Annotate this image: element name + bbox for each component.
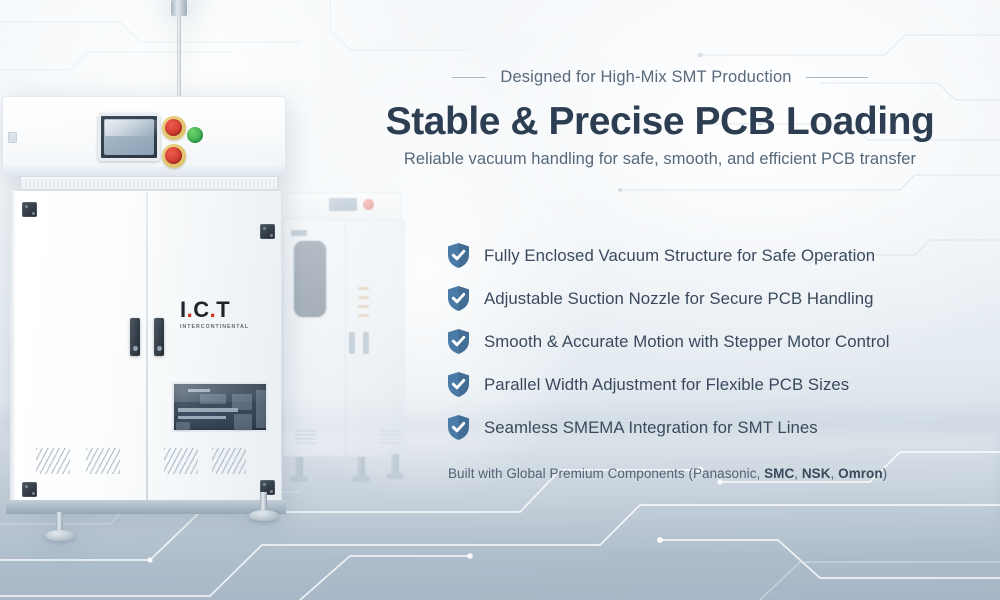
- internal-rail: [178, 416, 226, 419]
- secondary-machine-door-split: [345, 220, 346, 457]
- leveling-foot-pad: [45, 530, 75, 541]
- brand-omron: Omron: [838, 466, 883, 481]
- hero-banner: I.C.T INTERCONTINENTAL Designed for High…: [0, 0, 1000, 600]
- hero-content: Designed for High-Mix SMT Production Sta…: [360, 0, 1000, 600]
- cabinet-viewing-window: [172, 382, 268, 432]
- brand-panasonic: Panasonic: [693, 466, 757, 481]
- feature-item: Fully Enclosed Vacuum Structure for Safe…: [446, 234, 966, 277]
- internal-rail: [178, 408, 238, 412]
- secondary-machine-label: [291, 230, 307, 236]
- internal-component: [234, 414, 252, 431]
- cabinet-door-handle-left[interactable]: [130, 318, 140, 356]
- secondary-machine-handle: [349, 332, 355, 354]
- shield-check-icon: [446, 328, 471, 355]
- eyebrow-rule-right: [806, 77, 868, 78]
- secondary-machine-foot-pad: [290, 476, 308, 482]
- logo-letter-c: C: [193, 297, 209, 322]
- eyebrow-text: Designed for High-Mix SMT Production: [500, 68, 791, 87]
- window-glare: [174, 384, 270, 402]
- door-hinge-top-left: [22, 202, 37, 217]
- feature-label: Fully Enclosed Vacuum Structure for Safe…: [484, 246, 875, 266]
- footnote-suffix: ): [883, 466, 888, 481]
- cabinet-door-split: [146, 192, 148, 504]
- feature-label: Adjustable Suction Nozzle for Secure PCB…: [484, 289, 874, 309]
- ventilation-grille: [86, 448, 120, 474]
- eyebrow-rule-left: [452, 77, 486, 78]
- feature-label: Seamless SMEMA Integration for SMT Lines: [484, 418, 818, 438]
- components-footnote: Built with Global Premium Components (Pa…: [448, 466, 988, 481]
- cabinet-left-edge: [10, 190, 15, 506]
- logo-tagline: INTERCONTINENTAL: [180, 324, 272, 330]
- cabinet-door-handle-right[interactable]: [154, 318, 164, 356]
- logo-letter-t: T: [216, 297, 230, 322]
- feature-label: Smooth & Accurate Motion with Stepper Mo…: [484, 332, 890, 352]
- ict-brand-logo: I.C.T INTERCONTINENTAL: [180, 299, 272, 330]
- feature-label: Parallel Width Adjustment for Flexible P…: [484, 375, 849, 395]
- internal-component: [176, 422, 190, 431]
- secondary-machine-foot: [295, 457, 303, 477]
- door-hinge-bottom-left: [22, 482, 37, 497]
- footnote-prefix: Built with Global Premium Components (: [448, 466, 693, 481]
- machine-deck-slot: [8, 132, 17, 143]
- ventilation-grille: [36, 448, 70, 474]
- page-title: Stable & Precise PCB Loading: [360, 101, 960, 142]
- shield-check-icon: [446, 285, 471, 312]
- logo-letter-i: I: [180, 297, 187, 322]
- door-hinge-top-right: [260, 224, 275, 239]
- ventilation-grille: [164, 448, 198, 474]
- shield-check-icon: [446, 414, 471, 441]
- feature-item: Seamless SMEMA Integration for SMT Lines: [446, 406, 966, 449]
- feature-item: Adjustable Suction Nozzle for Secure PCB…: [446, 277, 966, 320]
- brushed-metal-strip: [20, 176, 278, 190]
- hmi-touchscreen[interactable]: [98, 113, 160, 161]
- pcb-loader-machine: I.C.T INTERCONTINENTAL: [0, 96, 286, 532]
- feature-item: Smooth & Accurate Motion with Stepper Mo…: [446, 320, 966, 363]
- machine-deck-edge: [2, 166, 286, 176]
- ventilation-grille: [212, 448, 246, 474]
- secondary-machine-vent: [295, 430, 317, 446]
- brand-smc: SMC: [764, 466, 794, 481]
- emergency-stop-button-upper[interactable]: [165, 119, 182, 136]
- eyebrow-row: Designed for High-Mix SMT Production: [360, 68, 960, 87]
- secondary-machine-window: [293, 240, 327, 318]
- leveling-foot-pad: [249, 510, 279, 521]
- shield-check-icon: [446, 242, 471, 269]
- logo-lettermark: I.C.T: [180, 299, 272, 321]
- start-button[interactable]: [187, 127, 203, 143]
- shield-check-icon: [446, 371, 471, 398]
- hmi-screen-glare: [105, 120, 157, 136]
- emergency-stop-button-lower[interactable]: [165, 147, 182, 164]
- signal-tower-pole: [177, 14, 181, 96]
- secondary-machine-hmi: [329, 198, 357, 211]
- brand-nsk: NSK: [802, 466, 831, 481]
- feature-list: Fully Enclosed Vacuum Structure for Safe…: [446, 234, 966, 449]
- feature-item: Parallel Width Adjustment for Flexible P…: [446, 363, 966, 406]
- machine-base-shadow: [6, 500, 286, 514]
- page-subtitle: Reliable vacuum handling for safe, smoot…: [360, 150, 960, 169]
